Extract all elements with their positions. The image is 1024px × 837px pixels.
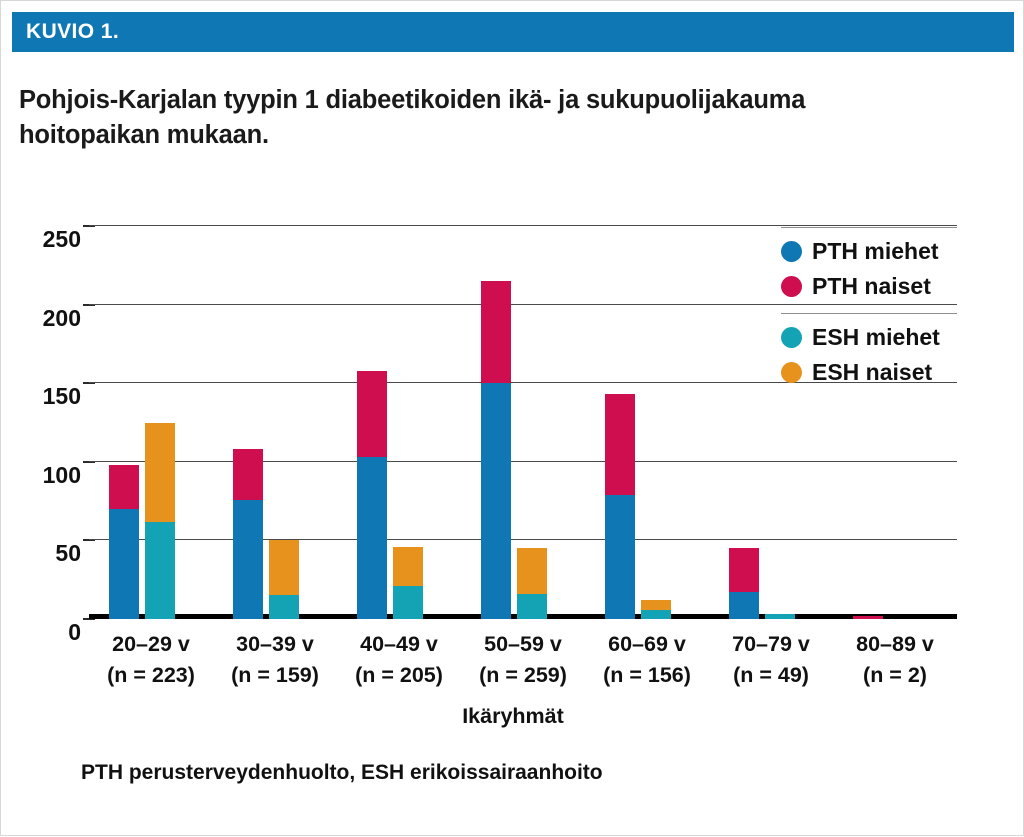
legend-label: ESH naiset	[812, 359, 932, 386]
bar-group	[89, 226, 213, 619]
bar-group	[585, 226, 709, 619]
bar-segment[interactable]	[481, 281, 511, 383]
bar-segment[interactable]	[641, 610, 671, 619]
x-tick-label: 70–79 v(n = 49)	[709, 629, 833, 690]
x-tick-count: (n = 49)	[709, 660, 833, 691]
bar-segment[interactable]	[145, 522, 175, 619]
legend-divider-middle	[781, 313, 957, 314]
x-tick-age-range: 80–89 v	[856, 632, 934, 656]
bar-pth[interactable]	[729, 548, 759, 619]
bar-esh[interactable]	[517, 548, 547, 619]
legend-item-esh-naiset[interactable]: ESH naiset	[781, 355, 961, 390]
bar-segment[interactable]	[605, 394, 635, 495]
bar-group	[461, 226, 585, 619]
bar-segment[interactable]	[269, 595, 299, 619]
legend-label: ESH miehet	[812, 324, 940, 351]
figure-footnote: PTH perusterveydenhuolto, ESH erikoissai…	[81, 761, 603, 785]
legend-divider-top	[781, 227, 957, 228]
bar-pth[interactable]	[233, 449, 263, 619]
bar-group	[337, 226, 461, 619]
bar-segment[interactable]	[109, 509, 139, 619]
x-tick-count: (n = 159)	[213, 660, 337, 691]
bar-esh[interactable]	[145, 423, 175, 620]
x-tick-age-range: 60–69 v	[608, 632, 686, 656]
circle-marker-icon	[781, 327, 802, 348]
x-tick-label: 50–59 v(n = 259)	[461, 629, 585, 690]
x-tick-label: 80–89 v(n = 2)	[833, 629, 957, 690]
bar-pth[interactable]	[853, 616, 883, 619]
bar-segment[interactable]	[641, 600, 671, 609]
bar-esh[interactable]	[269, 540, 299, 619]
x-tick-count: (n = 156)	[585, 660, 709, 691]
bar-segment[interactable]	[517, 594, 547, 619]
x-axis-title: Ikäryhmät	[1, 704, 1024, 729]
bar-esh[interactable]	[393, 547, 423, 619]
x-tick-label: 60–69 v(n = 156)	[585, 629, 709, 690]
chart-legend: PTH miehet PTH naiset ESH miehet ESH nai…	[781, 227, 961, 390]
circle-marker-icon	[781, 276, 802, 297]
x-tick-label: 20–29 v(n = 223)	[89, 629, 213, 690]
bar-pth[interactable]	[605, 394, 635, 619]
bar-group	[213, 226, 337, 619]
circle-marker-icon	[781, 241, 802, 262]
bar-segment[interactable]	[729, 592, 759, 619]
bar-segment[interactable]	[233, 500, 263, 619]
x-tick-label: 30–39 v(n = 159)	[213, 629, 337, 690]
bar-segment[interactable]	[357, 457, 387, 619]
x-tick-age-range: 70–79 v	[732, 632, 810, 656]
figure-card: KUVIO 1. Pohjois-Karjalan tyypin 1 diabe…	[0, 0, 1024, 836]
bar-segment[interactable]	[269, 540, 299, 595]
x-axis-labels: 20–29 v(n = 223)30–39 v(n = 159)40–49 v(…	[89, 629, 957, 699]
legend-label: PTH naiset	[812, 273, 931, 300]
bar-segment[interactable]	[357, 371, 387, 457]
bar-pth[interactable]	[357, 371, 387, 619]
bar-esh[interactable]	[765, 614, 795, 619]
bar-pth[interactable]	[109, 465, 139, 619]
bar-segment[interactable]	[233, 449, 263, 499]
x-tick-count: (n = 2)	[833, 660, 957, 691]
bar-segment[interactable]	[853, 616, 883, 619]
bar-segment[interactable]	[765, 614, 795, 619]
x-tick-age-range: 40–49 v	[360, 632, 438, 656]
bar-segment[interactable]	[393, 586, 423, 619]
bar-segment[interactable]	[145, 423, 175, 522]
x-tick-count: (n = 259)	[461, 660, 585, 691]
legend-item-pth-miehet[interactable]: PTH miehet	[781, 234, 961, 269]
legend-item-esh-miehet[interactable]: ESH miehet	[781, 320, 961, 355]
legend-item-pth-naiset[interactable]: PTH naiset	[781, 269, 961, 304]
legend-label: PTH miehet	[812, 238, 939, 265]
circle-marker-icon	[781, 362, 802, 383]
x-tick-count: (n = 205)	[337, 660, 461, 691]
bar-segment[interactable]	[517, 548, 547, 594]
x-tick-count: (n = 223)	[89, 660, 213, 691]
bar-segment[interactable]	[729, 548, 759, 592]
bar-segment[interactable]	[109, 465, 139, 509]
x-tick-label: 40–49 v(n = 205)	[337, 629, 461, 690]
bar-pth[interactable]	[481, 281, 511, 619]
bar-segment[interactable]	[481, 383, 511, 619]
bar-segment[interactable]	[605, 495, 635, 619]
x-tick-age-range: 30–39 v	[236, 632, 314, 656]
bar-esh[interactable]	[641, 600, 671, 619]
bar-segment[interactable]	[393, 547, 423, 586]
x-tick-age-range: 50–59 v	[484, 632, 562, 656]
x-tick-age-range: 20–29 v	[112, 632, 190, 656]
